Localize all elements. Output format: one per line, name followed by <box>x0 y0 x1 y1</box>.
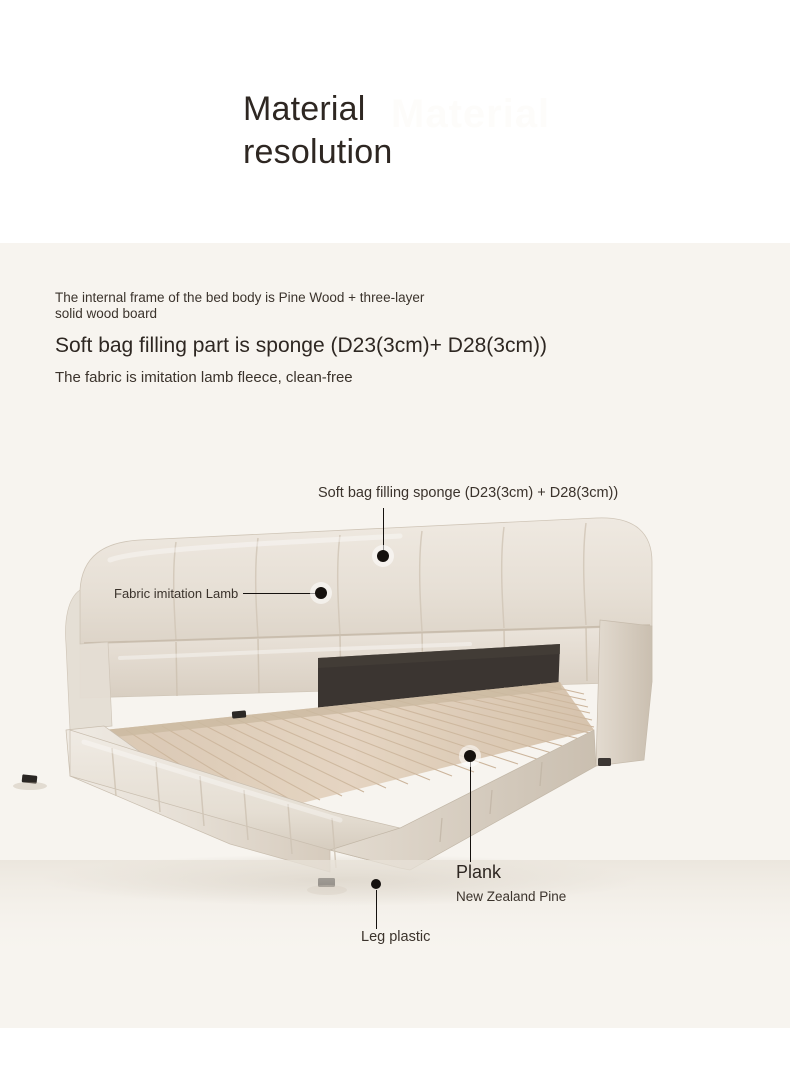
page-title: Material Material resolution <box>243 88 663 174</box>
title-line-2: resolution <box>243 131 663 174</box>
callout-plank-dot <box>464 750 476 762</box>
footer-band <box>0 1028 790 1084</box>
title-line-1: Material <box>243 88 663 131</box>
leg-right <box>598 758 611 766</box>
spec-text-block: The internal frame of the bed body is Pi… <box>55 290 715 387</box>
callout-plank-title: Plank <box>456 862 501 883</box>
callout-leg-dot <box>371 879 381 889</box>
spec-sponge-note: Soft bag filling part is sponge (D23(3cm… <box>55 331 715 361</box>
floor-fade <box>0 860 790 960</box>
headboard-right-panel <box>596 620 652 766</box>
product-illustration <box>0 430 790 960</box>
spec-frame-note: The internal frame of the bed body is Pi… <box>55 290 435 322</box>
spec-fabric-note: The fabric is imitation lamb fleece, cle… <box>55 369 435 387</box>
callout-sponge-dot <box>377 550 389 562</box>
callout-fabric-label: Fabric imitation Lamb <box>114 586 238 601</box>
leg-shadow-left <box>13 782 47 790</box>
rail-bracket <box>232 710 247 718</box>
callout-sponge-label: Soft bag filling sponge (D23(3cm) + D28(… <box>318 485 618 501</box>
callout-leg-leader-line <box>376 890 377 929</box>
callout-plank-subtitle: New Zealand Pine <box>456 889 566 904</box>
callout-plank-leader-line <box>470 760 471 862</box>
callout-leg-label: Leg plastic <box>361 929 430 945</box>
callout-fabric-dot <box>315 587 327 599</box>
